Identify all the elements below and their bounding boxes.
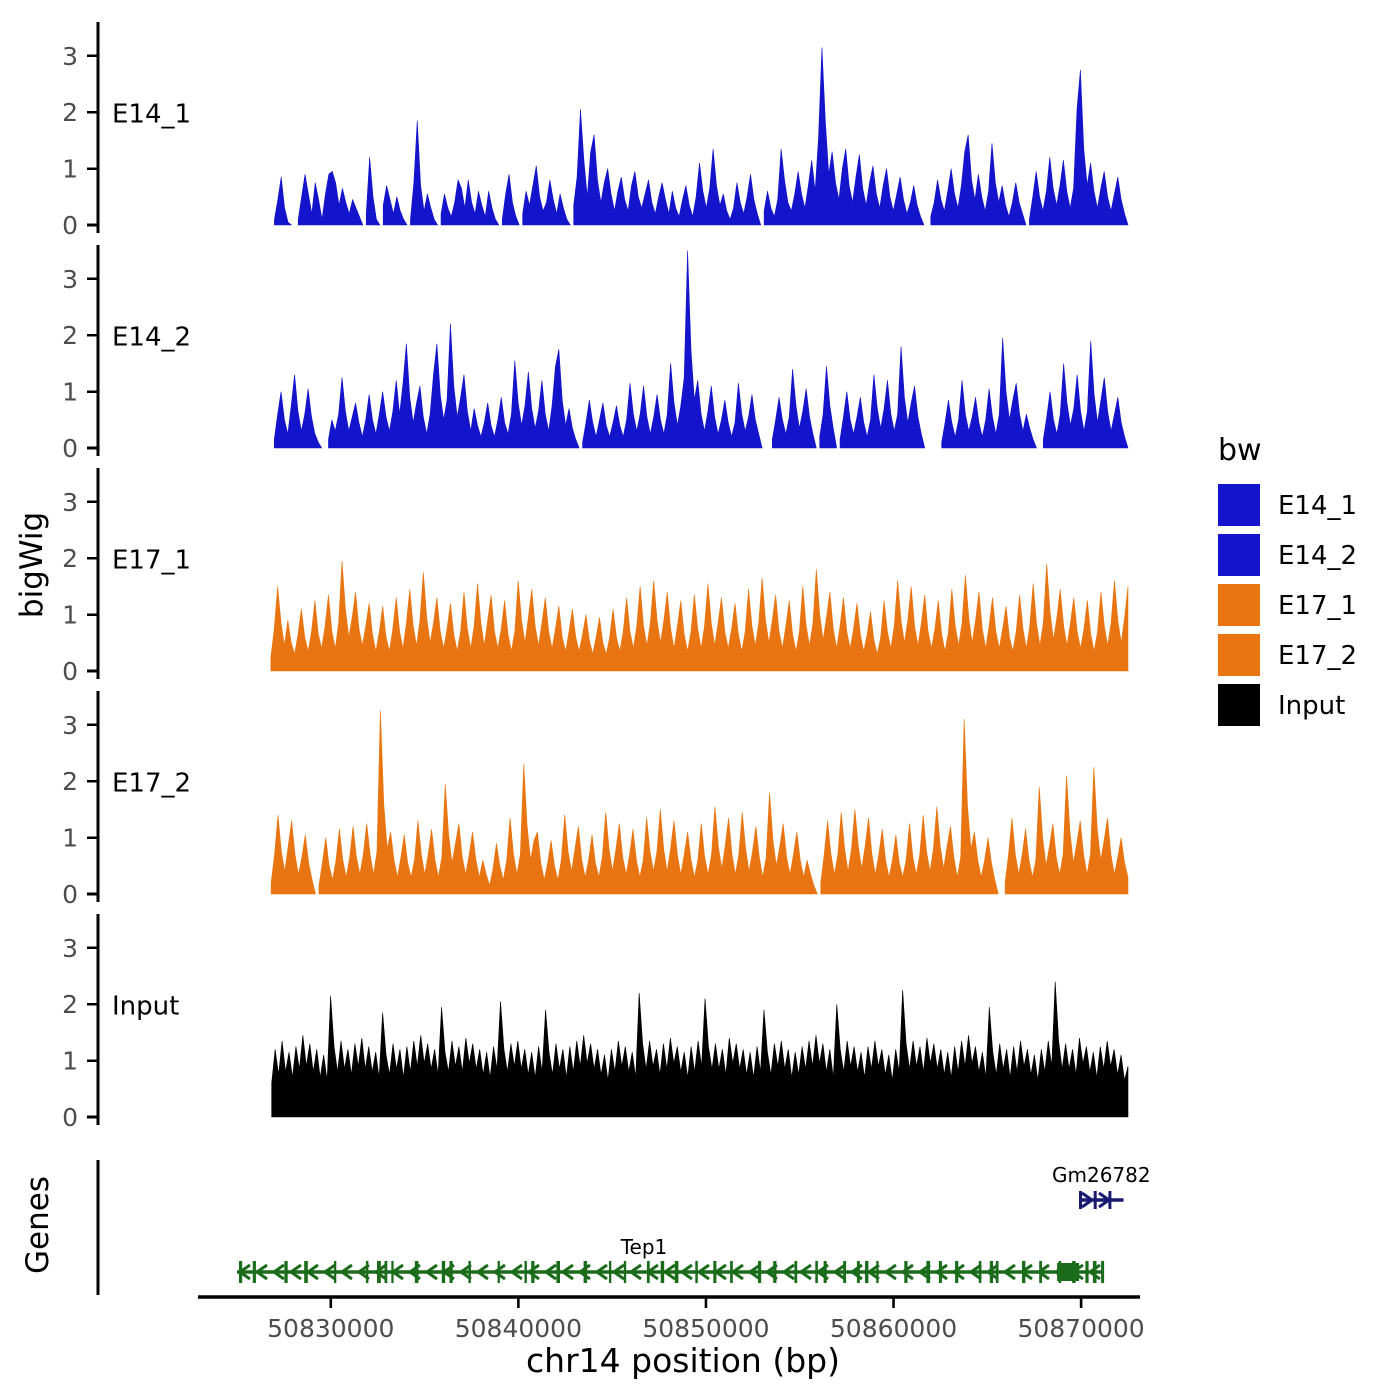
y-axis-title-genes: Genes (20, 1176, 56, 1274)
legend-swatch-e14_2[interactable] (1218, 534, 1260, 576)
exon-mark (730, 1261, 733, 1283)
y-tick-label: 2 (62, 767, 78, 796)
track-label-e17_1: E17_1 (112, 545, 191, 575)
exon-mark (385, 1261, 388, 1283)
y-tick-label: 3 (62, 488, 78, 517)
exon-mark (1085, 1261, 1088, 1283)
exon-mark (695, 1261, 698, 1283)
exon-mark (624, 1261, 626, 1283)
y-tick-label: 1 (62, 1047, 78, 1076)
y-tick-label: 2 (62, 990, 78, 1019)
exon-mark (824, 1261, 827, 1283)
exon-mark (675, 1261, 679, 1283)
exon-mark (1093, 1261, 1097, 1283)
figure-canvas: bigWig Genes 0123E14_10123E14_20123E17_1… (0, 0, 1400, 1400)
exon-mark (442, 1261, 445, 1283)
y-tick-label: 1 (62, 601, 78, 630)
exon-mark (450, 1261, 453, 1283)
y-tick-label: 1 (62, 155, 78, 184)
exon-mark (391, 1261, 393, 1283)
exon-mark (661, 1261, 665, 1283)
y-tick-label: 0 (62, 1103, 78, 1132)
y-tick-label: 0 (62, 880, 78, 909)
x-tick-label: 50870000 (1017, 1314, 1144, 1343)
exon-mark (647, 1261, 650, 1283)
x-tick-label: 50840000 (455, 1314, 582, 1343)
genome-browser-figure: bigWig Genes 0123E14_10123E14_20123E17_1… (0, 0, 1400, 1400)
exon-mark (926, 1261, 930, 1283)
exon-mark (1108, 1191, 1111, 1209)
exon-mark (939, 1261, 942, 1283)
y-tick-label: 0 (62, 211, 78, 240)
exon-mark (996, 1261, 999, 1283)
exon-block (1057, 1263, 1079, 1281)
exon-mark (979, 1261, 982, 1283)
exon-mark (865, 1261, 868, 1283)
track-label-e14_2: E14_2 (112, 322, 191, 352)
legend-label-e17_2: E17_2 (1278, 641, 1357, 671)
legend-label-e17_1: E17_1 (1278, 591, 1357, 621)
y-tick-label: 3 (62, 42, 78, 71)
exon-mark (239, 1261, 242, 1283)
y-tick-label: 3 (62, 265, 78, 294)
legend-swatch-e17_2[interactable] (1218, 634, 1260, 676)
y-axis-title-bigwig: bigWig (14, 512, 50, 618)
legend-label-input: Input (1278, 691, 1345, 721)
exon-mark (990, 1261, 993, 1283)
exon-mark (955, 1261, 958, 1283)
exon-mark (415, 1261, 419, 1283)
gene-label-tep1: Tep1 (620, 1235, 668, 1259)
legend-label-e14_1: E14_1 (1278, 491, 1357, 521)
track-label-e14_1: E14_1 (112, 99, 191, 129)
exon-mark (1094, 1191, 1097, 1209)
exon-mark (531, 1261, 534, 1283)
track-label-input: Input (112, 991, 179, 1021)
exon-mark (609, 1261, 611, 1283)
y-tick-label: 1 (62, 824, 78, 853)
x-axis-title: chr14 position (bp) (526, 1341, 840, 1380)
legend-swatch-input[interactable] (1218, 684, 1260, 726)
gene-label-gm26782: Gm26782 (1052, 1163, 1151, 1187)
exon-mark (1039, 1261, 1042, 1283)
exon-mark (758, 1261, 761, 1283)
exon-mark (468, 1261, 471, 1283)
legend-swatch-e17_1[interactable] (1218, 584, 1260, 626)
exon-mark (253, 1261, 256, 1283)
y-tick-label: 0 (62, 657, 78, 686)
track-label-e17_2: E17_2 (112, 768, 191, 798)
x-tick-label: 50830000 (267, 1314, 394, 1343)
exon-mark (304, 1261, 308, 1283)
x-tick-label: 50850000 (642, 1314, 769, 1343)
exon-mark (366, 1261, 369, 1283)
y-tick-label: 2 (62, 544, 78, 573)
exon-mark (815, 1261, 818, 1283)
x-tick-label: 50860000 (830, 1314, 957, 1343)
exon-mark (284, 1261, 287, 1283)
y-tick-label: 0 (62, 434, 78, 463)
exon-mark (1101, 1261, 1104, 1283)
exon-mark (584, 1261, 588, 1283)
exon-mark (377, 1261, 381, 1283)
y-tick-label: 1 (62, 378, 78, 407)
y-tick-label: 3 (62, 711, 78, 740)
y-tick-label: 2 (62, 321, 78, 350)
exon-mark (1022, 1261, 1025, 1283)
exon-mark (556, 1261, 560, 1283)
exon-mark (904, 1261, 907, 1283)
y-tick-label: 2 (62, 98, 78, 127)
exon-mark (525, 1261, 527, 1283)
y-tick-label: 3 (62, 934, 78, 963)
exon-mark (1079, 1191, 1082, 1209)
exon-mark (843, 1261, 846, 1283)
exon-mark (876, 1261, 878, 1283)
exon-mark (334, 1261, 336, 1283)
legend-swatch-e14_1[interactable] (1218, 484, 1260, 526)
legend-label-e14_2: E14_2 (1278, 541, 1357, 571)
exon-mark (498, 1261, 500, 1283)
exon-mark (857, 1261, 860, 1283)
legend-title: bw (1218, 433, 1262, 468)
exon-mark (794, 1261, 797, 1283)
exon-mark (773, 1261, 776, 1283)
exon-mark (713, 1261, 716, 1283)
